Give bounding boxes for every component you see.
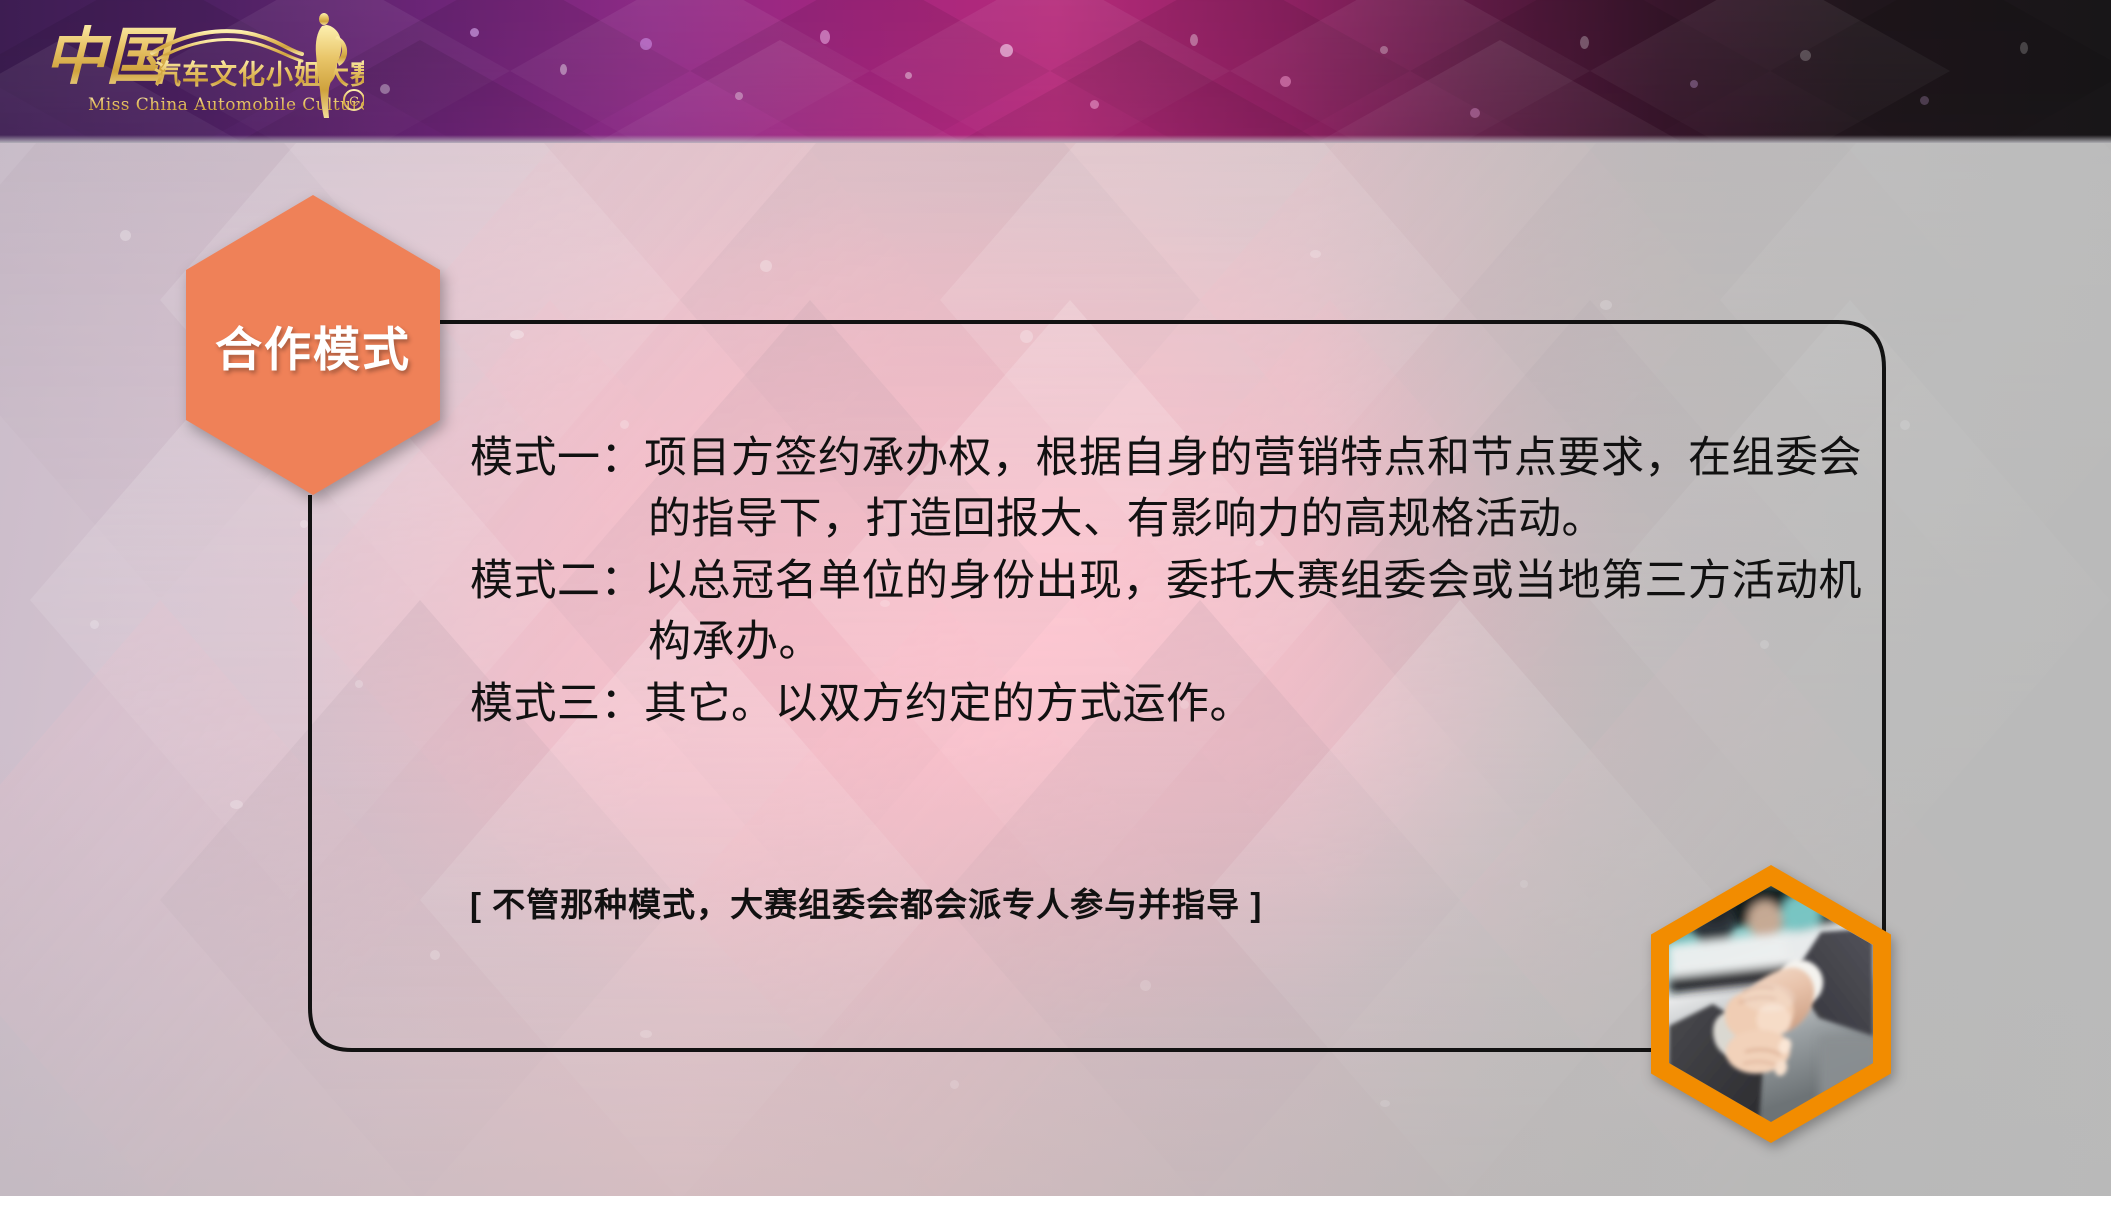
section-tag-label: 合作模式: [186, 195, 440, 495]
header-banner: 中国 汽车文化小姐大赛 Miss China Automobile Cultur…: [0, 0, 2111, 143]
slide-root: 中国 汽车文化小姐大赛 Miss China Automobile Cultur…: [0, 0, 2111, 1222]
content-line-1: 模式一：项目方签约承办权，根据自身的营销特点和节点要求，在组委会: [470, 428, 1890, 489]
content-line-2: 的指导下，打造回报大、有影响力的高规格活动。: [470, 489, 1890, 550]
content-line-4: 构承办。: [470, 612, 1890, 673]
bottom-white-strip: [0, 1196, 2111, 1222]
content-line-3: 模式二：以总冠名单位的身份出现，委托大赛组委会或当地第三方活动机: [470, 551, 1890, 612]
slide-canvas: 中国 汽车文化小姐大赛 Miss China Automobile Cultur…: [0, 0, 2111, 1196]
banner-bottom-fade: [0, 135, 2111, 143]
svg-text:C: C: [349, 95, 359, 110]
handshake-photo-hexagon: [1651, 865, 1891, 1143]
brand-logo: 中国 汽车文化小姐大赛 Miss China Automobile Cultur…: [34, 6, 364, 134]
content-paragraph-block: 模式一：项目方签约承办权，根据自身的营销特点和节点要求，在组委会 的指导下，打造…: [470, 428, 1890, 735]
content-note-bracketed: [ 不管那种模式，大赛组委会都会派专人参与并指导 ]: [470, 878, 1262, 926]
section-tag-hexagon: 合作模式: [186, 195, 440, 495]
content-line-5: 模式三：其它。以双方约定的方式运作。: [470, 674, 1890, 735]
